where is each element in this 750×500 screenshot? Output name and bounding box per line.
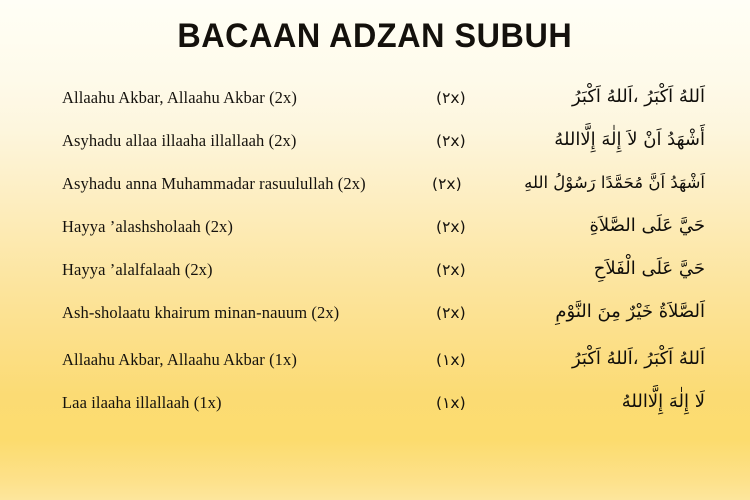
latin-transliteration: Asyhadu anna Muhammadar rasuulullah (2x) [62, 162, 366, 205]
latin-transliteration: Allaahu Akbar, Allaahu Akbar (1x) [62, 338, 297, 381]
repetition-count: (١x) [436, 381, 466, 424]
list-item: Laa ilaaha illallaah (1x) (١x) لَا إِلٰه… [0, 381, 750, 424]
repetition-count: (٢x) [436, 248, 466, 291]
arabic-text: اَلصَّلاَةُ خَيْرٌ مِنَ النَّوْمِ [555, 291, 705, 334]
arabic-text: حَيَّ عَلَى الْفَلاَحِ [594, 248, 705, 291]
list-item: Asyhadu allaa illaaha illallaah (2x) (٢x… [0, 119, 750, 162]
list-item: Hayya ’alalfalaah (2x) (٢x) حَيَّ عَلَى … [0, 248, 750, 291]
repetition-count: (٢x) [436, 119, 466, 162]
latin-transliteration: Laa ilaaha illallaah (1x) [62, 381, 222, 424]
latin-transliteration: Asyhadu allaa illaaha illallaah (2x) [62, 119, 297, 162]
adzan-subuh-poster: BACAAN ADZAN SUBUH Allaahu Akbar, Allaah… [0, 0, 750, 500]
repetition-count: (٢x) [436, 76, 466, 119]
title-block: BACAAN ADZAN SUBUH [0, 18, 750, 55]
repetition-count: (١x) [436, 338, 466, 381]
repetition-count: (٢x) [432, 162, 462, 205]
arabic-text: حَيَّ عَلَى الصَّلاَةِ [589, 205, 705, 248]
arabic-text: لَا إِلٰهَ إِلَّااللهُ [622, 381, 705, 424]
list-item: Ash-sholaatu khairum minan-nauum (2x) (٢… [0, 291, 750, 334]
list-item: Allaahu Akbar, Allaahu Akbar (2x) (٢x) ا… [0, 76, 750, 119]
latin-transliteration: Allaahu Akbar, Allaahu Akbar (2x) [62, 76, 297, 119]
arabic-text: اَللهُ اَكْبَرُ ،اَللهُ اَكْبَرُ [572, 338, 705, 381]
adzan-lines-list: Allaahu Akbar, Allaahu Akbar (2x) (٢x) ا… [0, 76, 750, 424]
latin-transliteration: Ash-sholaatu khairum minan-nauum (2x) [62, 291, 339, 334]
arabic-text: أَشْهَدُ اَنْ لاَ إِلٰهَ إِلَّااللهُ [554, 119, 705, 162]
repetition-count: (٢x) [436, 205, 466, 248]
latin-transliteration: Hayya ’alalfalaah (2x) [62, 248, 213, 291]
repetition-count: (٢x) [436, 291, 466, 334]
arabic-text: اَشْهَدُ اَنَّ مُحَمَّدًا رَسُوْلُ اللهِ [524, 162, 705, 205]
latin-transliteration: Hayya ’alashsholaah (2x) [62, 205, 233, 248]
arabic-text: اَللهُ اَكْبَرُ ،اَللهُ اَكْبَرُ [572, 76, 705, 119]
list-item: Allaahu Akbar, Allaahu Akbar (1x) (١x) ا… [0, 338, 750, 381]
page-title: BACAAN ADZAN SUBUH [178, 18, 573, 55]
list-item: Hayya ’alashsholaah (2x) (٢x) حَيَّ عَلَ… [0, 205, 750, 248]
list-item: Asyhadu anna Muhammadar rasuulullah (2x)… [0, 162, 750, 205]
